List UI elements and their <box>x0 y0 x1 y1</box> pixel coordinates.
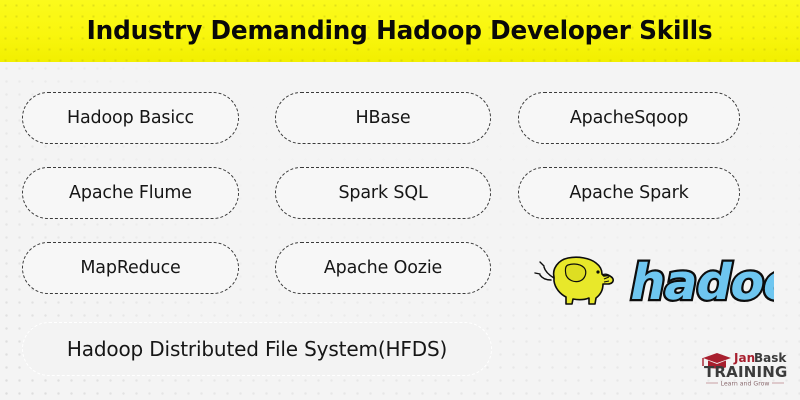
hadoop-wordmark: hadoop <box>626 253 774 309</box>
skill-pill-hadoop-basics[interactable]: Hadoop Basicc <box>22 92 239 144</box>
brand-tagline-text: Learn and Grow <box>721 381 770 388</box>
skill-pill-apache-flume[interactable]: Apache Flume <box>22 167 239 219</box>
skill-label: Hadoop Basicc <box>67 108 194 128</box>
skill-label: ApacheSqoop <box>570 108 688 128</box>
svg-text:hadoop: hadoop <box>626 253 774 309</box>
brand-word-text: TRAINING <box>704 363 788 381</box>
skill-pill-apache-sqoop[interactable]: ApacheSqoop <box>518 92 740 144</box>
skill-label: Spark SQL <box>338 183 427 203</box>
skill-pill-apache-oozie[interactable]: Apache Oozie <box>275 242 491 294</box>
page-title: Industry Demanding Hadoop Developer Skil… <box>87 16 713 46</box>
skill-pill-apache-spark[interactable]: Apache Spark <box>518 167 740 219</box>
skill-pill-hbase[interactable]: HBase <box>275 92 491 144</box>
skill-label: Apache Flume <box>69 183 192 203</box>
header-banner: Industry Demanding Hadoop Developer Skil… <box>0 0 800 62</box>
skill-pill-mapreduce[interactable]: MapReduce <box>22 242 239 294</box>
skill-label: Hadoop Distributed File System(HFDS) <box>67 337 447 361</box>
skill-pill-spark-sql[interactable]: Spark SQL <box>275 167 491 219</box>
skill-label: Apache Oozie <box>324 258 442 278</box>
hadoop-logo: hadoop <box>518 247 774 309</box>
skill-label: MapReduce <box>80 258 180 278</box>
janbask-training-logo[interactable]: Jan Bask TRAINING Learn and Grow <box>700 349 790 389</box>
skill-label: Apache Spark <box>569 183 688 203</box>
slide-canvas: Industry Demanding Hadoop Developer Skil… <box>0 0 800 400</box>
hadoop-elephant-icon <box>535 257 613 304</box>
skill-pill-hdfs[interactable]: Hadoop Distributed File System(HFDS) <box>22 322 492 376</box>
skill-label: HBase <box>355 108 410 128</box>
